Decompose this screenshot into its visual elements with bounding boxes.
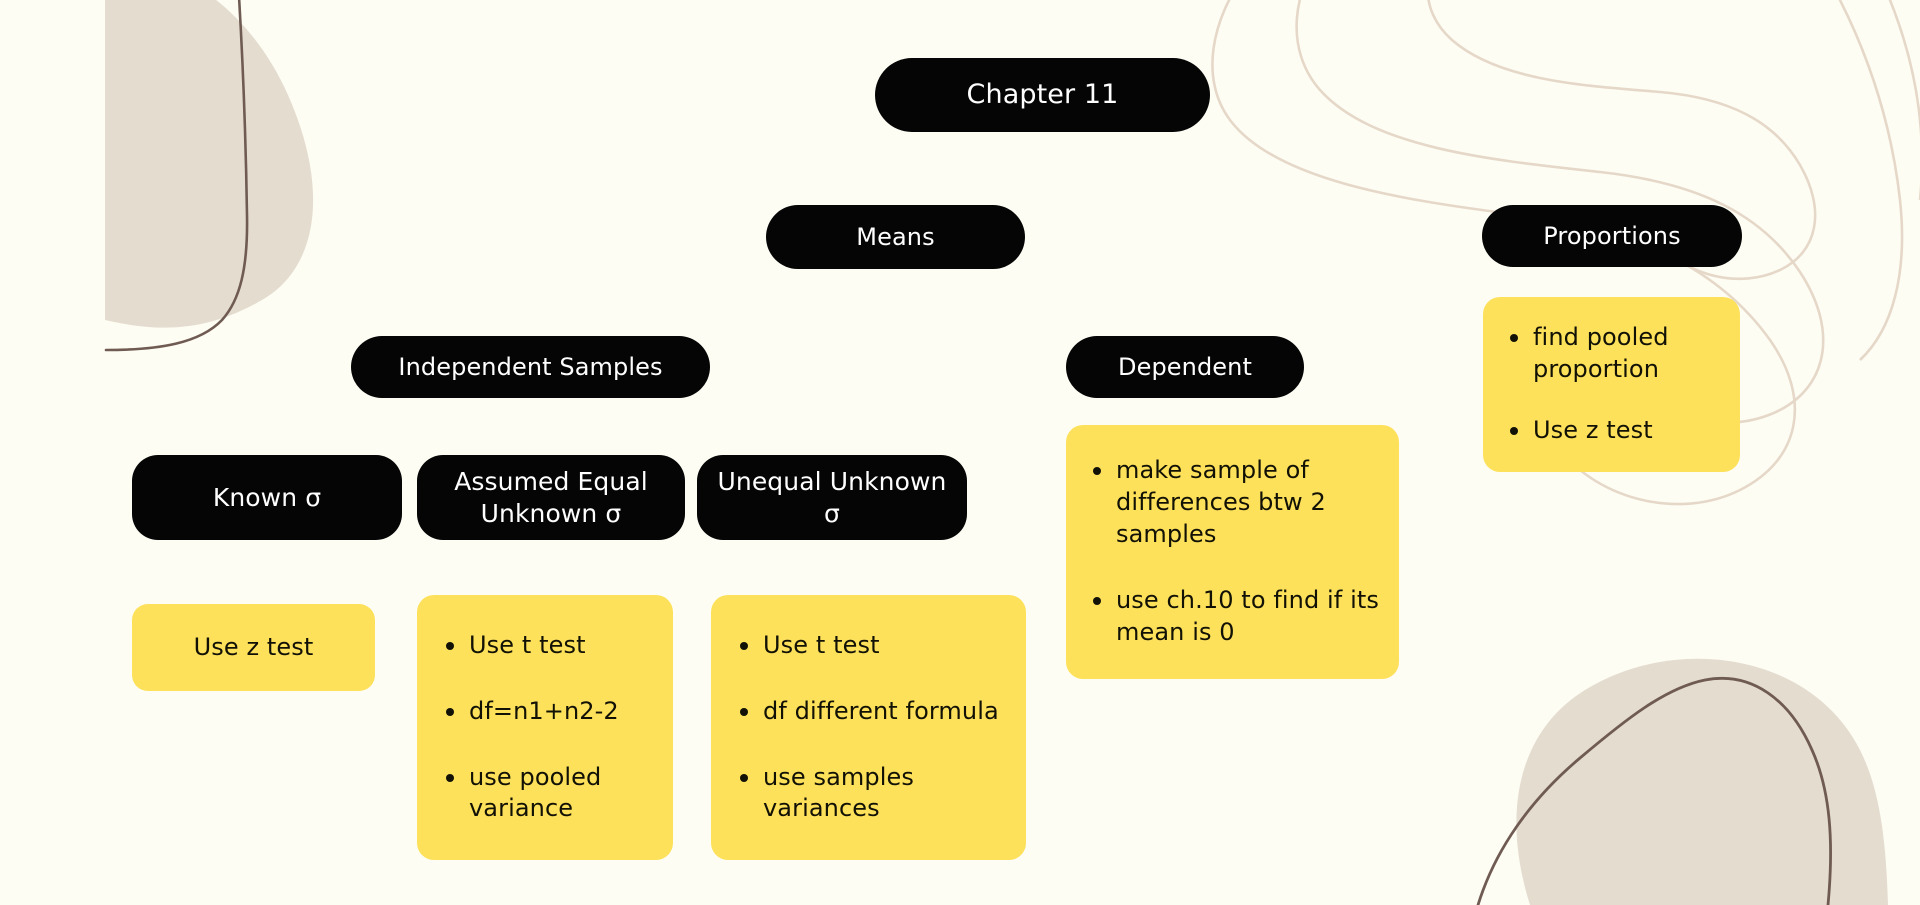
bullet-list: find pooled proportion Use z test [1503,322,1720,447]
list-item: Use t test [733,630,1004,662]
node-means[interactable]: Means [766,205,1025,269]
list-item: use pooled variance [439,762,651,826]
list-item: find pooled proportion [1503,322,1720,386]
node-dependent[interactable]: Dependent [1066,336,1304,398]
list-item: Use t test [439,630,651,662]
list-item: make sample of differences btw 2 samples [1086,455,1379,551]
list-item: Use z test [1503,415,1720,447]
mindmap-canvas: Chapter 11 Means Proportions find pooled… [0,0,1920,905]
bullet-list: make sample of differences btw 2 samples… [1086,455,1379,649]
card-assumed-equal-steps[interactable]: Use t test df=n1+n2-2 use pooled varianc… [417,595,673,860]
bullet-list: Use t test df different formula use samp… [733,630,1004,826]
card-unequal-unknown-steps[interactable]: Use t test df different formula use samp… [711,595,1026,860]
card-proportions-steps[interactable]: find pooled proportion Use z test [1483,297,1740,472]
node-chapter-title[interactable]: Chapter 11 [875,58,1210,132]
bullet-list: Use t test df=n1+n2-2 use pooled varianc… [439,630,651,826]
list-item: df=n1+n2-2 [439,696,651,728]
card-dependent-steps[interactable]: make sample of differences btw 2 samples… [1066,425,1399,679]
node-assumed-equal-unknown-sigma[interactable]: Assumed Equal Unknown σ [417,455,685,540]
list-item: df different formula [733,696,1004,728]
card-known-sigma-test[interactable]: Use z test [132,604,375,691]
node-independent-samples[interactable]: Independent Samples [351,336,710,398]
node-unequal-unknown-sigma[interactable]: Unequal Unknown σ [697,455,967,540]
list-item: use samples variances [733,762,1004,826]
node-proportions[interactable]: Proportions [1482,205,1742,267]
node-known-sigma[interactable]: Known σ [132,455,402,540]
list-item: use ch.10 to find if its mean is 0 [1086,585,1379,649]
